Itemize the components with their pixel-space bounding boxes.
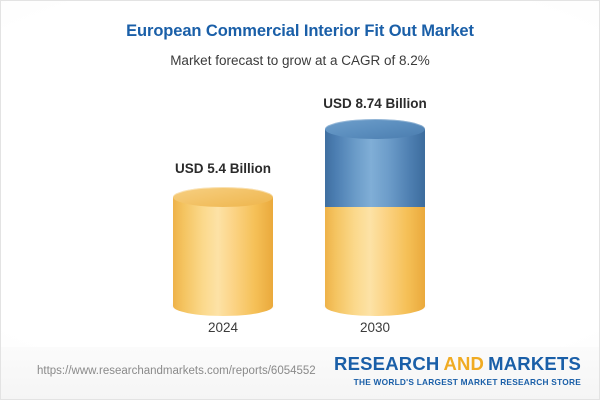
research-and-markets-logo[interactable]: RESEARCHANDMARKETS THE WORLD'S LARGEST M… (334, 355, 581, 386)
logo-word-research: RESEARCH (334, 353, 439, 374)
category-label-2030: 2030 (360, 320, 390, 335)
logo-wordmark: RESEARCHANDMARKETS (334, 355, 581, 374)
logo-tagline: THE WORLD'S LARGEST MARKET RESEARCH STOR… (334, 378, 581, 386)
bar-value-label-2030: USD 8.74 Billion (323, 96, 427, 111)
plot-area: USD 5.4 Billion 2024 USD 8.74 Billion (1, 1, 600, 400)
bar-top-cap-2030 (325, 119, 425, 139)
logo-word-markets: MARKETS (488, 353, 581, 374)
footer-bar: https://www.researchandmarkets.com/repor… (1, 347, 599, 399)
category-label-2024: 2024 (208, 320, 238, 335)
bar-body-2024 (173, 197, 273, 306)
bar-value-label-2024: USD 5.4 Billion (175, 161, 271, 176)
bar-segment-base-2030 (325, 203, 425, 306)
chart-canvas: European Commercial Interior Fit Out Mar… (0, 0, 600, 400)
bar-top-cap-2024 (173, 187, 273, 207)
report-url[interactable]: https://www.researchandmarkets.com/repor… (37, 365, 316, 377)
logo-word-and: AND (443, 353, 484, 374)
bar-segment-growth-2030 (325, 129, 425, 207)
